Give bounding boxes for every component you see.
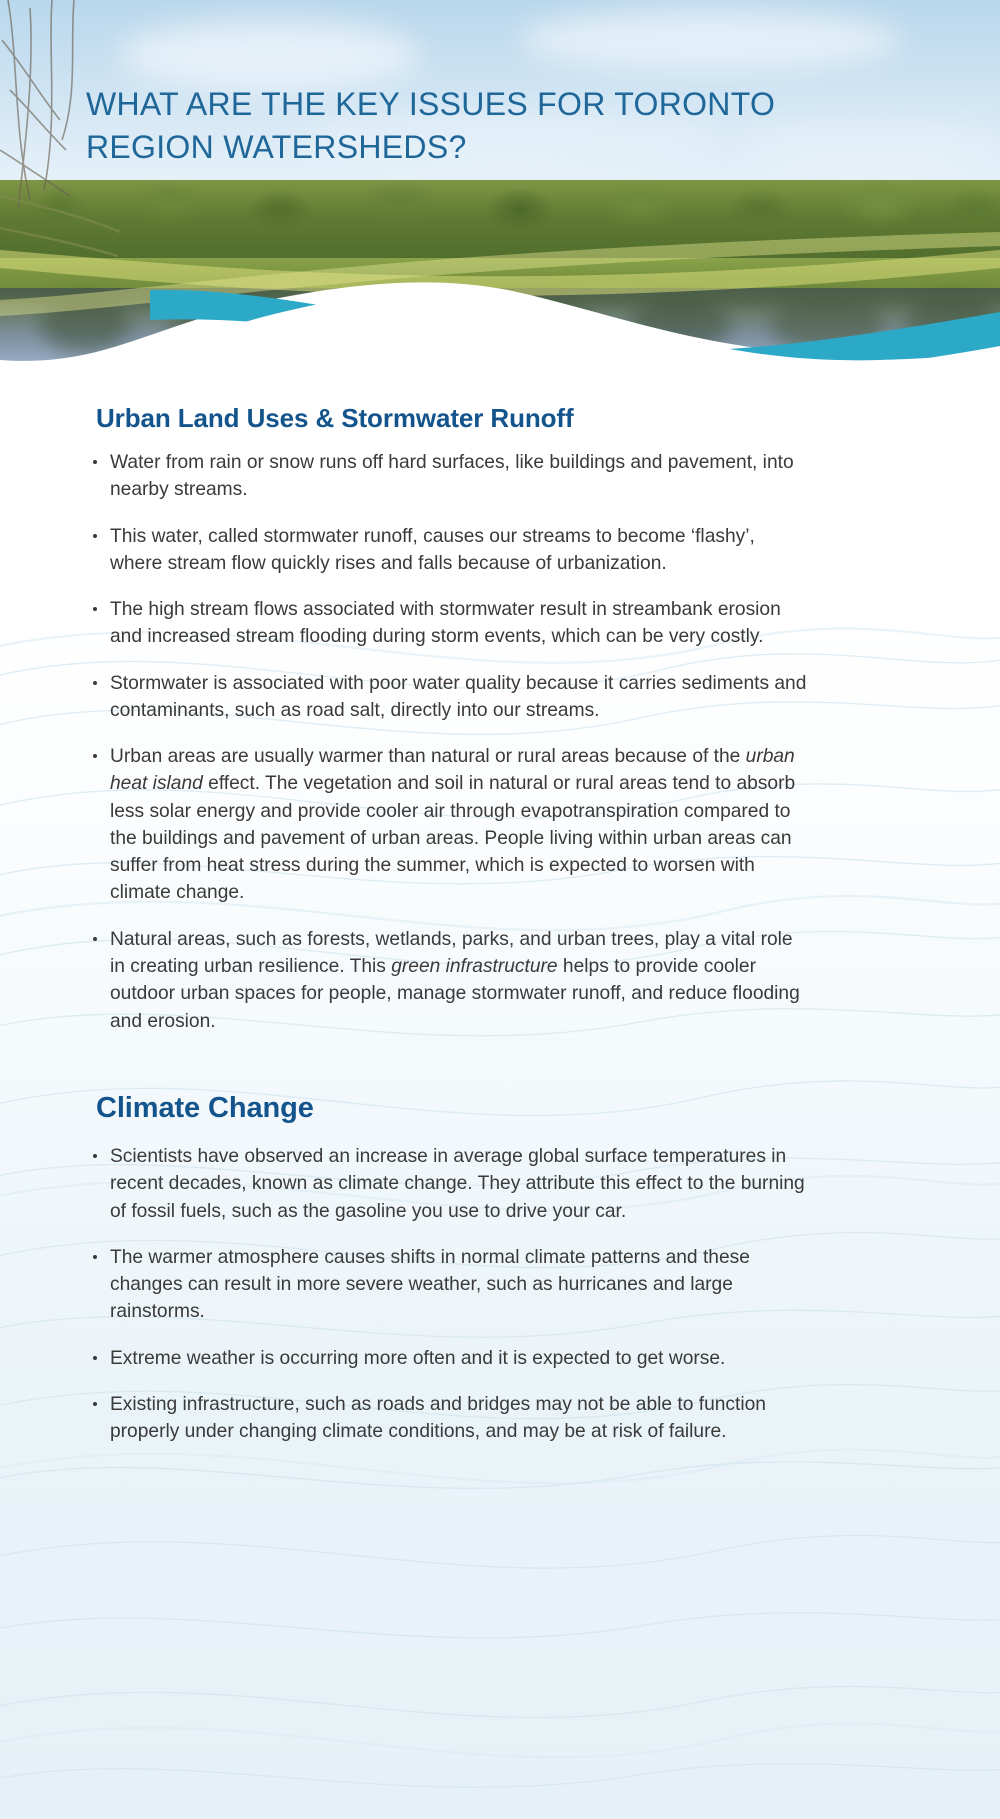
page-title: WHAT ARE THE KEY ISSUES FOR TORONTO REGI… xyxy=(86,83,786,168)
list-item: The high stream flows associated with st… xyxy=(88,596,808,651)
bullet-dot-icon xyxy=(93,460,97,464)
list-item-text: Extreme weather is occurring more often … xyxy=(110,1348,725,1369)
bullet-dot-icon xyxy=(93,1402,97,1406)
section-heading-climate: Climate Change xyxy=(96,1092,314,1125)
section-heading-urban: Urban Land Uses & Stormwater Runoff xyxy=(96,403,574,434)
bullet-dot-icon xyxy=(93,1255,97,1259)
bullet-dot-icon xyxy=(93,1356,97,1360)
bullet-list-urban: Water from rain or snow runs off hard su… xyxy=(88,449,808,1035)
bullet-dot-icon xyxy=(93,1154,97,1158)
list-item: This water, called stormwater runoff, ca… xyxy=(88,523,808,578)
list-item-text: effect. The vegetation and soil in natur… xyxy=(110,773,795,903)
list-item: Extreme weather is occurring more often … xyxy=(88,1345,808,1372)
list-item: Water from rain or snow runs off hard su… xyxy=(88,449,808,504)
list-item: Stormwater is associated with poor water… xyxy=(88,670,808,725)
bullet-dot-icon xyxy=(93,534,97,538)
list-item-text: Water from rain or snow runs off hard su… xyxy=(110,452,794,500)
bullet-dot-icon xyxy=(93,754,97,758)
list-item-emphasis: green infrastructure xyxy=(391,956,557,977)
list-item: Scientists have observed an increase in … xyxy=(88,1143,808,1225)
list-item-text: The warmer atmosphere causes shifts in n… xyxy=(110,1247,750,1323)
list-item-text: Scientists have observed an increase in … xyxy=(110,1146,805,1222)
wave-divider-graphic xyxy=(0,250,1000,395)
bullet-dot-icon xyxy=(93,937,97,941)
list-item: Existing infrastructure, such as roads a… xyxy=(88,1391,808,1446)
cloud-shape xyxy=(520,10,900,70)
list-item: Natural areas, such as forests, wetlands… xyxy=(88,926,808,1035)
bullet-dot-icon xyxy=(93,681,97,685)
cloud-shape xyxy=(120,20,420,90)
bullet-list-climate: Scientists have observed an increase in … xyxy=(88,1143,808,1445)
bullet-dot-icon xyxy=(93,607,97,611)
list-item-text: Urban areas are usually warmer than natu… xyxy=(110,746,746,767)
list-item-text: The high stream flows associated with st… xyxy=(110,599,781,647)
list-item-text: Stormwater is associated with poor water… xyxy=(110,673,806,721)
list-item-text: Existing infrastructure, such as roads a… xyxy=(110,1394,766,1442)
document-page: WHAT ARE THE KEY ISSUES FOR TORONTO REGI… xyxy=(0,0,1000,1819)
hero-banner: WHAT ARE THE KEY ISSUES FOR TORONTO REGI… xyxy=(0,0,1000,395)
list-item: The warmer atmosphere causes shifts in n… xyxy=(88,1244,808,1326)
list-item: Urban areas are usually warmer than natu… xyxy=(88,743,808,907)
list-item-text: This water, called stormwater runoff, ca… xyxy=(110,526,755,574)
